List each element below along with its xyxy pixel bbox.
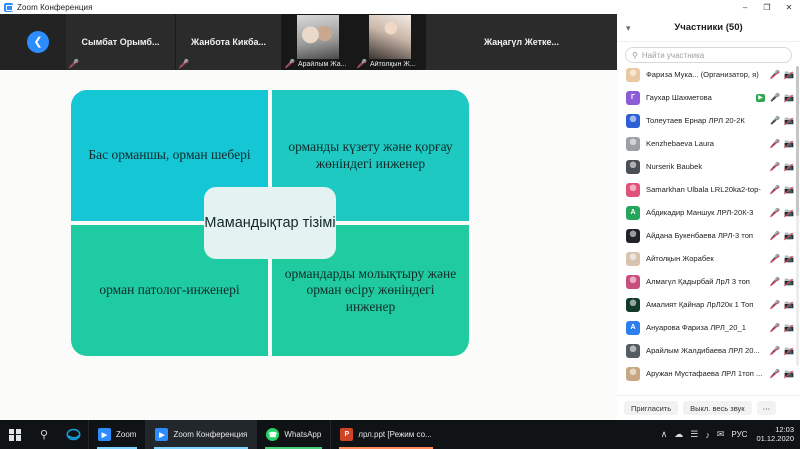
participant-row[interactable]: Айдана Букенбаева ЛРЛ-3 топ🎤📷 <box>617 224 800 247</box>
window-title: Zoom Конференция <box>17 3 93 12</box>
participants-scrollbar[interactable] <box>796 66 799 366</box>
participant-status-icons: 🎤📷 <box>770 370 793 378</box>
zoom-icon <box>4 3 13 12</box>
avatar <box>626 252 640 266</box>
taskbar-app-whatsapp[interactable]: ☎ WhatsApp <box>256 420 330 449</box>
video-off-icon[interactable]: 📷 <box>784 163 793 171</box>
participant-status-icons: 🎤📷 <box>770 209 793 217</box>
video-tile[interactable]: Жаңагүл Жетке... <box>426 14 617 70</box>
video-off-icon[interactable]: 📷 <box>784 278 793 286</box>
participant-row[interactable]: Фариза Мука... (Организатор, я)🎤📷 <box>617 63 800 86</box>
tile-video-thumbnail <box>297 15 339 59</box>
volume-icon[interactable]: ♪ <box>705 430 710 440</box>
video-off-icon[interactable]: 📷 <box>784 301 793 309</box>
clock[interactable]: 12:03 01.12.2020 <box>754 426 794 443</box>
taskbar-app-zoom-conference[interactable]: ▶ Zoom Конференция <box>145 420 256 449</box>
participant-filmstrip: ❮ Сымбат Орымб... Жанбота Кикба... <box>0 14 617 70</box>
mic-muted-icon[interactable]: 🎤 <box>770 140 779 148</box>
participant-row[interactable]: Арайлым Жалдибаева ЛРЛ 20...🎤📷 <box>617 339 800 362</box>
video-tile[interactable]: Жанбота Кикба... <box>176 14 282 70</box>
participant-name: Айтолқын Жорабек <box>646 254 764 263</box>
mic-muted-icon[interactable]: 🎤 <box>770 163 779 171</box>
diagram-center-card: Мамандықтар тізімі <box>204 187 336 259</box>
tile-display-name: Жанбота Кикба... <box>187 37 270 47</box>
mic-muted-icon[interactable]: 🎤 <box>770 232 779 240</box>
taskbar-app-label: Zoom <box>116 430 136 439</box>
avatar-initial: Г <box>626 91 640 105</box>
participant-name: Nurserik Baubek <box>646 162 764 171</box>
action-center-icon[interactable]: ✉ <box>717 429 725 440</box>
participant-row[interactable]: ААнуарова Фариза ЛРЛ_20_1🎤📷 <box>617 316 800 339</box>
avatar <box>626 229 640 243</box>
mic-muted-icon <box>357 60 367 68</box>
participant-row[interactable]: Аружан Мустафаева ЛРЛ 1топ ...🎤📷 <box>617 362 800 385</box>
participant-name: Ануарова Фариза ЛРЛ_20_1 <box>646 323 764 332</box>
taskbar-app-label: WhatsApp <box>284 430 321 439</box>
avatar <box>626 160 640 174</box>
quadrant-top-right-label: орманды күзету және қорғау жөніндегі инж… <box>272 139 469 172</box>
participant-row[interactable]: Алмагүл Қадырбай ЛрЛ 3 топ🎤📷 <box>617 270 800 293</box>
close-button[interactable]: ✕ <box>778 0 800 14</box>
clock-date: 01.12.2020 <box>756 435 794 444</box>
mic-muted-icon[interactable]: 🎤 <box>770 301 779 309</box>
mic-muted-icon <box>179 60 189 68</box>
shared-screen: Бас орманшы, орман шебері орманды күзету… <box>0 70 617 420</box>
participant-status-icons: 🎤📷 <box>770 301 793 309</box>
powerpoint-icon: P <box>340 428 353 441</box>
windows-taskbar: ⚲ ▶ Zoom ▶ Zoom Конференция ☎ WhatsApp P… <box>0 420 800 449</box>
search-input[interactable] <box>642 51 785 60</box>
avatar <box>626 183 640 197</box>
tile-badge-name: Арайлым Жа... <box>298 61 347 68</box>
internet-explorer-icon[interactable] <box>58 420 88 449</box>
avatar <box>626 275 640 289</box>
tray-chevron-up-icon[interactable]: ∧ <box>661 429 668 440</box>
avatar <box>626 137 640 151</box>
mic-muted-icon[interactable]: 🎤 <box>770 278 779 286</box>
mic-muted-icon <box>285 60 295 68</box>
chevron-down-icon[interactable]: ▾ <box>626 23 631 34</box>
tile-badge <box>179 60 192 68</box>
maximize-button[interactable]: ❐ <box>756 0 778 14</box>
network-icon[interactable]: ☰ <box>690 429 698 440</box>
participant-row[interactable]: ААбдикадир Маншук ЛРЛ-20К-3🎤📷 <box>617 201 800 224</box>
tile-badge <box>69 60 82 68</box>
video-off-icon[interactable]: 📷 <box>784 117 793 125</box>
tile-badge: Айтолқын Ж... <box>357 60 416 68</box>
participant-status-icons: ▶🎤📷 <box>756 94 793 102</box>
video-off-icon[interactable]: 📷 <box>784 94 793 102</box>
participant-search[interactable]: ⚲ <box>625 47 792 63</box>
zoom-icon: ▶ <box>98 428 111 441</box>
chevron-left-icon[interactable]: ❮ <box>27 31 49 53</box>
window-controls: – ❐ ✕ <box>734 0 800 14</box>
participant-status-icons: 🎤📷 <box>770 347 793 355</box>
mic-muted-icon[interactable]: 🎤 <box>770 71 779 79</box>
participant-name: Алмагүл Қадырбай ЛрЛ 3 топ <box>646 277 764 286</box>
participant-name: Арайлым Жалдибаева ЛРЛ 20... <box>646 346 764 355</box>
participants-footer: Пригласить Выкл. весь звук ⋯ <box>617 395 800 420</box>
participant-status-icons: 🎤📷 <box>770 117 793 125</box>
more-options-button[interactable]: ⋯ <box>757 401 777 415</box>
participant-name: Амалият Қайнар ЛрЛ20к 1 Топ <box>646 300 764 309</box>
video-off-icon[interactable]: 📷 <box>784 140 793 148</box>
invite-button[interactable]: Пригласить <box>624 401 678 415</box>
participant-status-icons: 🎤📷 <box>770 324 793 332</box>
participant-name: Аружан Мустафаева ЛРЛ 1топ ... <box>646 369 764 378</box>
participants-panel: ▾ Участники (50) ⚲ Фариза Мука... (Орган… <box>617 14 800 420</box>
participants-header: ▾ Участники (50) <box>617 14 800 42</box>
diagram-center-label: Мамандықтар тізімі <box>204 214 335 232</box>
mic-on-icon[interactable]: 🎤 <box>770 117 779 125</box>
participant-status-icons: 🎤📷 <box>770 186 793 194</box>
taskbar-app-label: лрл.ppt [Режим со... <box>358 430 431 439</box>
participant-row[interactable]: ГГаухар Шахметова▶🎤📷 <box>617 86 800 109</box>
quadrant-bottom-right-label: ормандарды молықтыру және орман өсіру жө… <box>272 266 469 315</box>
participant-name: Айдана Букенбаева ЛРЛ-3 топ <box>646 231 764 240</box>
participant-row[interactable]: Samarkhan Ulbala LRL20ka2-top-🎤📷 <box>617 178 800 201</box>
onedrive-icon[interactable]: ☁ <box>674 429 683 440</box>
participants-list[interactable]: Фариза Мука... (Организатор, я)🎤📷ГГаухар… <box>617 63 800 395</box>
mic-muted-icon[interactable]: 🎤 <box>770 370 779 378</box>
mic-muted-icon <box>69 60 79 68</box>
search-icon: ⚲ <box>632 51 638 60</box>
video-off-icon[interactable]: 📷 <box>784 255 793 263</box>
video-tile[interactable]: Арайлым Жа... <box>282 14 354 70</box>
tile-badge-name: Айтолқын Ж... <box>370 61 416 68</box>
tile-video-thumbnail <box>369 15 411 59</box>
tile-display-name: Сымбат Орымб... <box>78 37 164 47</box>
meeting-area: ❮ Сымбат Орымб... Жанбота Кикба... <box>0 14 617 420</box>
presentation-slide: Бас орманшы, орман шебері орманды күзету… <box>0 70 617 418</box>
mic-muted-icon[interactable]: 🎤 <box>770 324 779 332</box>
mic-muted-icon[interactable]: 🎤 <box>770 347 779 355</box>
participant-status-icons: 🎤📷 <box>770 255 793 263</box>
participant-row[interactable]: Kenzhebaeva Laura🎤📷 <box>617 132 800 155</box>
participant-name: Фариза Мука... (Организатор, я) <box>646 70 764 79</box>
mic-muted-icon[interactable]: 🎤 <box>770 209 779 217</box>
participant-status-icons: 🎤📷 <box>770 71 793 79</box>
participant-row[interactable]: Толеутаев Ернар ЛРЛ 20-2К🎤📷 <box>617 109 800 132</box>
windows-start-icon[interactable] <box>0 420 30 449</box>
video-tile[interactable]: Сымбат Орымб... <box>66 14 176 70</box>
system-tray: ∧ ☁ ☰ ♪ ✉ РУС 12:03 01.12.2020 <box>661 426 800 443</box>
participant-status-icons: 🎤📷 <box>770 232 793 240</box>
video-off-icon[interactable]: 📷 <box>784 71 793 79</box>
avatar <box>626 68 640 82</box>
avatar-initial: А <box>626 321 640 335</box>
quadrant-bottom-left-label: орман патолог-инженері <box>87 282 251 298</box>
video-off-icon[interactable]: 📷 <box>784 186 793 194</box>
video-off-icon[interactable]: 📷 <box>784 370 793 378</box>
participant-status-icons: 🎤📷 <box>770 278 793 286</box>
mic-on-icon[interactable]: 🎤 <box>770 94 779 102</box>
screen-share-badge: ▶ <box>756 94 765 102</box>
participant-row[interactable]: Амалият Қайнар ЛрЛ20к 1 Топ🎤📷 <box>617 293 800 316</box>
search-icon[interactable]: ⚲ <box>30 420 58 449</box>
participant-name: Гаухар Шахметова <box>646 93 750 102</box>
participant-status-icons: 🎤📷 <box>770 163 793 171</box>
video-off-icon[interactable]: 📷 <box>784 324 793 332</box>
video-tile[interactable]: Айтолқын Ж... <box>354 14 426 70</box>
taskbar-app-zoom[interactable]: ▶ Zoom <box>88 420 145 449</box>
taskbar-app-powerpoint[interactable]: P лрл.ppt [Режим со... <box>330 420 440 449</box>
zoom-icon: ▶ <box>155 428 168 441</box>
taskbar-app-label: Zoom Конференция <box>173 430 247 439</box>
avatar-initial: А <box>626 206 640 220</box>
participant-name: Абдикадир Маншук ЛРЛ-20К-3 <box>646 208 764 217</box>
tile-display-name: Жаңагүл Жетке... <box>480 37 563 47</box>
tile-badge: Арайлым Жа... <box>285 60 346 68</box>
video-off-icon[interactable]: 📷 <box>784 232 793 240</box>
video-off-icon[interactable]: 📷 <box>784 347 793 355</box>
avatar <box>626 298 640 312</box>
mic-muted-icon[interactable]: 🎤 <box>770 186 779 194</box>
participants-title: Участники (50) <box>674 22 742 33</box>
participant-status-icons: 🎤📷 <box>770 140 793 148</box>
minimize-button[interactable]: – <box>734 0 756 14</box>
quadrant-diagram: Бас орманшы, орман шебері орманды күзету… <box>71 90 469 356</box>
language-indicator[interactable]: РУС <box>731 430 747 439</box>
whatsapp-icon: ☎ <box>266 428 279 441</box>
video-off-icon[interactable]: 📷 <box>784 209 793 217</box>
screen: Zoom Конференция – ❐ ✕ ❮ Сымбат Орымб...… <box>0 0 800 449</box>
window-titlebar: Zoom Конференция – ❐ ✕ <box>0 0 800 14</box>
scrollbar-thumb[interactable] <box>796 66 799 216</box>
participant-row[interactable]: Nurserik Baubek🎤📷 <box>617 155 800 178</box>
participant-name: Samarkhan Ulbala LRL20ka2-top- <box>646 185 764 194</box>
avatar <box>626 344 640 358</box>
avatar <box>626 367 640 381</box>
participant-name: Kenzhebaeva Laura <box>646 139 764 148</box>
avatar <box>626 114 640 128</box>
quadrant-top-left-label: Бас орманшы, орман шебері <box>76 147 262 163</box>
mic-muted-icon[interactable]: 🎤 <box>770 255 779 263</box>
participant-row[interactable]: Айтолқын Жорабек🎤📷 <box>617 247 800 270</box>
participant-name: Толеутаев Ернар ЛРЛ 20-2К <box>646 116 764 125</box>
mute-all-button[interactable]: Выкл. весь звук <box>683 401 751 415</box>
